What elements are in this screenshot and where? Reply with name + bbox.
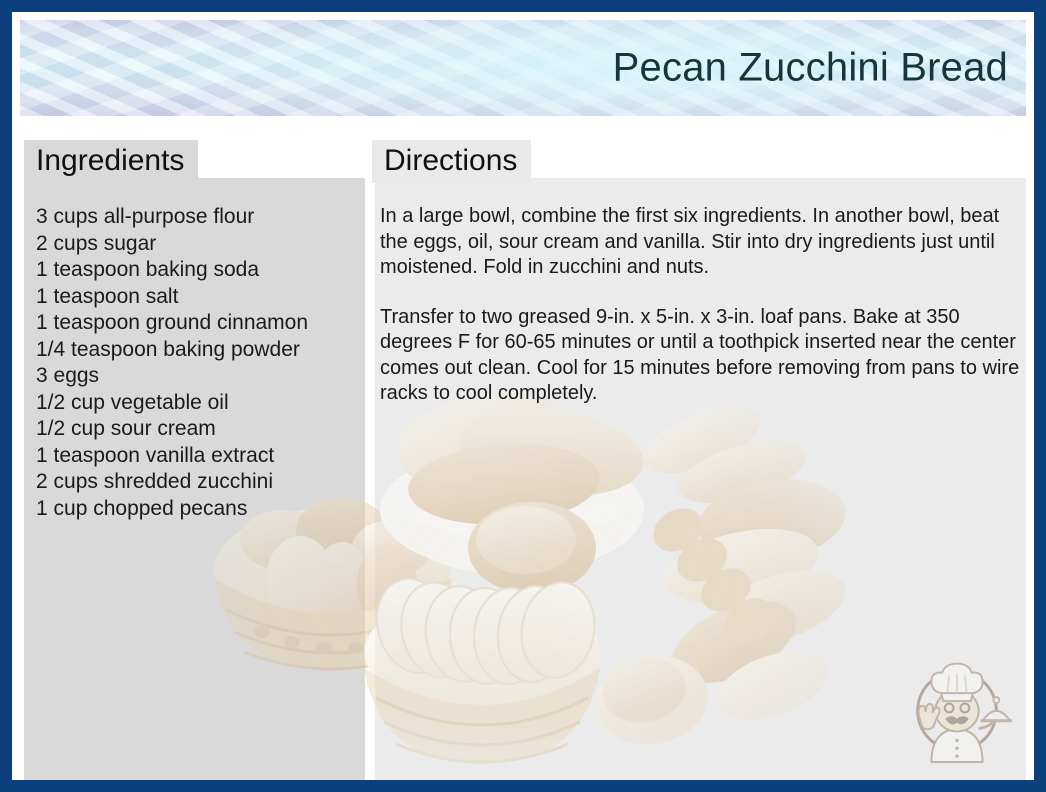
page-title: Pecan Zucchini Bread [613,46,1008,91]
list-item: 2 cups shredded zucchini [36,469,366,496]
list-item: 1/2 cup sour cream [36,416,366,443]
list-item: 3 eggs [36,363,366,390]
recipe-page: Pecan Zucchini Bread [12,12,1034,780]
section-heading-ingredients: Ingredients [24,140,198,183]
list-item: 2 cups sugar [36,231,366,258]
list-item: 1/4 teaspoon baking powder [36,337,366,364]
list-item: 1/2 cup vegetable oil [36,390,366,417]
list-item: 1 teaspoon salt [36,284,366,311]
list-item: 1 teaspoon ground cinnamon [36,310,366,337]
list-item: 1 teaspoon baking soda [36,257,366,284]
directions-text: In a large bowl, combine the first six i… [380,204,1020,407]
header-banner: Pecan Zucchini Bread [20,20,1026,116]
chef-with-cloche-logo [898,646,1016,764]
list-item: 1 cup chopped pecans [36,496,366,523]
list-item: 1 teaspoon vanilla extract [36,443,366,470]
ingredients-list: 3 cups all-purpose flour 2 cups sugar 1 … [36,204,366,522]
section-heading-directions: Directions [372,140,531,183]
directions-paragraph: Transfer to two greased 9-in. x 5-in. x … [380,305,1020,407]
directions-paragraph: In a large bowl, combine the first six i… [380,204,1020,281]
recipe-card: Pecan Zucchini Bread [0,0,1046,792]
list-item: 3 cups all-purpose flour [36,204,366,231]
